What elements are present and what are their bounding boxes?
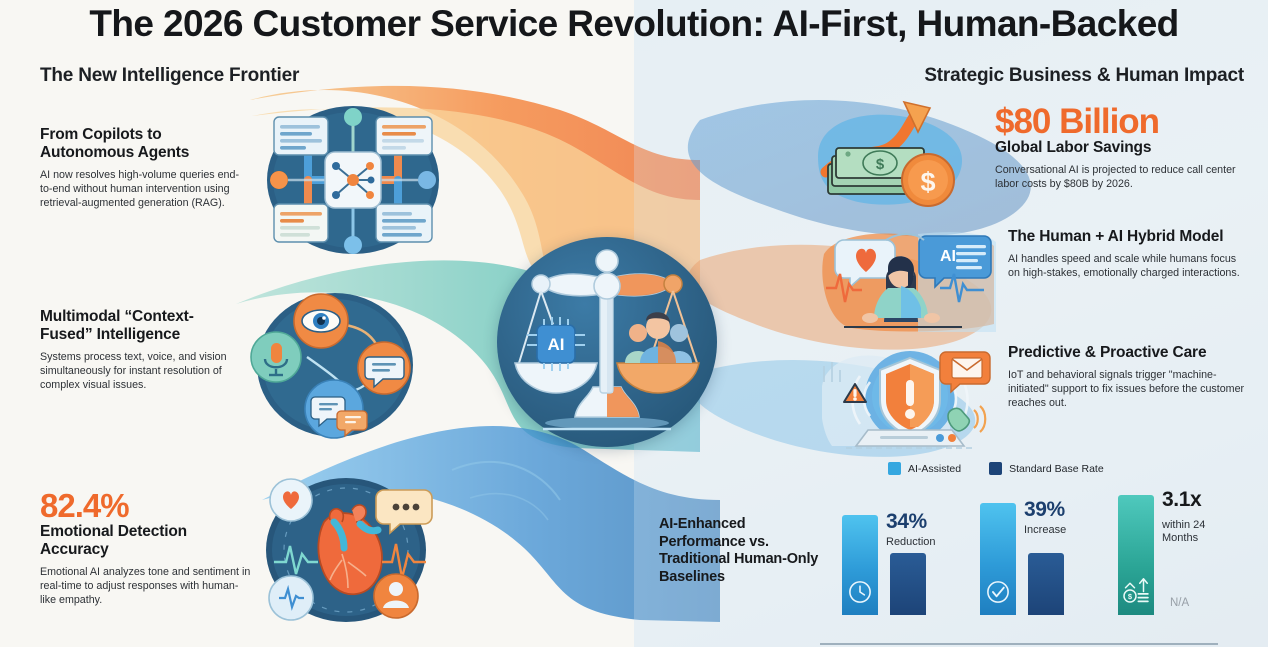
legend-swatch-ai-assisted [888,462,901,475]
performance-bar-chart: AI-Assisted Standard Base Rate 34% Reduc… [820,462,1250,644]
ai-bubble-label: AI [940,248,956,265]
right-block-3: Predictive & Proactive Care IoT and beha… [1008,344,1256,411]
legend-item-base-rate: Standard Base Rate [989,462,1104,475]
left-block-1-heading: From Copilots to Autonomous Agents [40,126,240,162]
bar-fcr-ai-assisted [980,503,1016,615]
legend-item-ai-assisted: AI-Assisted [888,462,961,475]
bar-label-fcr-caption: Increase [1024,524,1066,537]
infographic-poster: The 2026 Customer Service Revolution: AI… [0,0,1268,647]
illustration-human-ai-hybrid: AI [822,228,997,338]
illustration-emotional-heart [256,470,446,630]
svg-text:$: $ [876,156,885,173]
bar-label-aht-value: 34% [886,511,927,533]
bar-fcr-base-rate [1028,553,1064,615]
bar-label-roi-caption: within 24 Months [1162,519,1232,545]
illustration-money-growth: $ $ [800,98,985,218]
right-block-3-body: IoT and behavioral signals trigger "mach… [1008,368,1256,411]
bar-group-fcr: 39% Increase [966,490,1088,615]
svg-text:$: $ [920,167,935,197]
bar-label-roi-na: N/A [1170,597,1189,609]
right-block-1-body: Conversational AI is projected to reduce… [995,163,1245,191]
bar-label-fcr-value: 39% [1024,499,1065,521]
bar-group-aht: 34% Reduction [828,490,950,615]
right-block-2-body: AI handles speed and scale while humans … [1008,252,1248,280]
legend-swatch-base-rate [989,462,1002,475]
right-block-3-heading: Predictive & Proactive Care [1008,344,1256,362]
legend-label-base-rate: Standard Base Rate [1009,463,1104,475]
page-title: The 2026 Customer Service Revolution: AI… [0,2,1268,46]
left-block-3-body: Emotional AI analyzes tone and sentiment… [40,565,252,608]
labor-savings-stat: $80 Billion [995,105,1245,139]
illustration-multimodal-senses [243,285,433,445]
emotional-accuracy-stat: 82.4% [40,489,252,523]
illustration-network-hub [258,100,448,258]
chart-plot-area: 34% Reduction 39% Increase [820,490,1250,615]
left-block-1: From Copilots to Autonomous Agents AI no… [40,126,240,211]
bar-group-roi: $ 3.1x within 24 Months N/A [1104,490,1226,615]
chart-baseline-axis [820,643,1218,645]
left-column-heading: The New Intelligence Frontier [40,65,299,87]
svg-text:$: $ [1128,592,1133,601]
ai-chip-label: AI [548,335,565,354]
center-balance-emblem: AI [497,237,717,447]
bar-aht-base-rate [890,553,926,615]
illustration-predictive-shield [822,344,997,456]
left-block-2-heading: Multimodal “Context-Fused” Intelligence [40,308,240,344]
left-block-2: Multimodal “Context-Fused” Intelligence … [40,308,240,393]
bar-roi-ai-assisted: $ [1118,495,1154,615]
left-block-3-heading: Emotional Detection Accuracy [40,523,252,559]
right-block-1-heading: Global Labor Savings [995,139,1245,157]
right-block-2: The Human + AI Hybrid Model AI handles s… [1008,228,1248,280]
chart-title: AI-Enhanced Performance vs. Traditional … [659,516,819,586]
chart-legend: AI-Assisted Standard Base Rate [888,462,1104,475]
right-block-1: $80 Billion Global Labor Savings Convers… [995,105,1245,191]
left-block-3: 82.4% Emotional Detection Accuracy Emoti… [40,489,252,608]
right-block-2-heading: The Human + AI Hybrid Model [1008,228,1248,246]
bar-label-roi-value: 3.1x [1162,489,1201,511]
left-block-2-body: Systems process text, voice, and vision … [40,350,240,393]
bar-label-aht-caption: Reduction [886,536,936,549]
bar-aht-ai-assisted [842,515,878,615]
left-block-1-body: AI now resolves high-volume queries end-… [40,168,240,211]
right-column-heading: Strategic Business & Human Impact [924,65,1244,87]
legend-label-ai-assisted: AI-Assisted [908,463,961,475]
